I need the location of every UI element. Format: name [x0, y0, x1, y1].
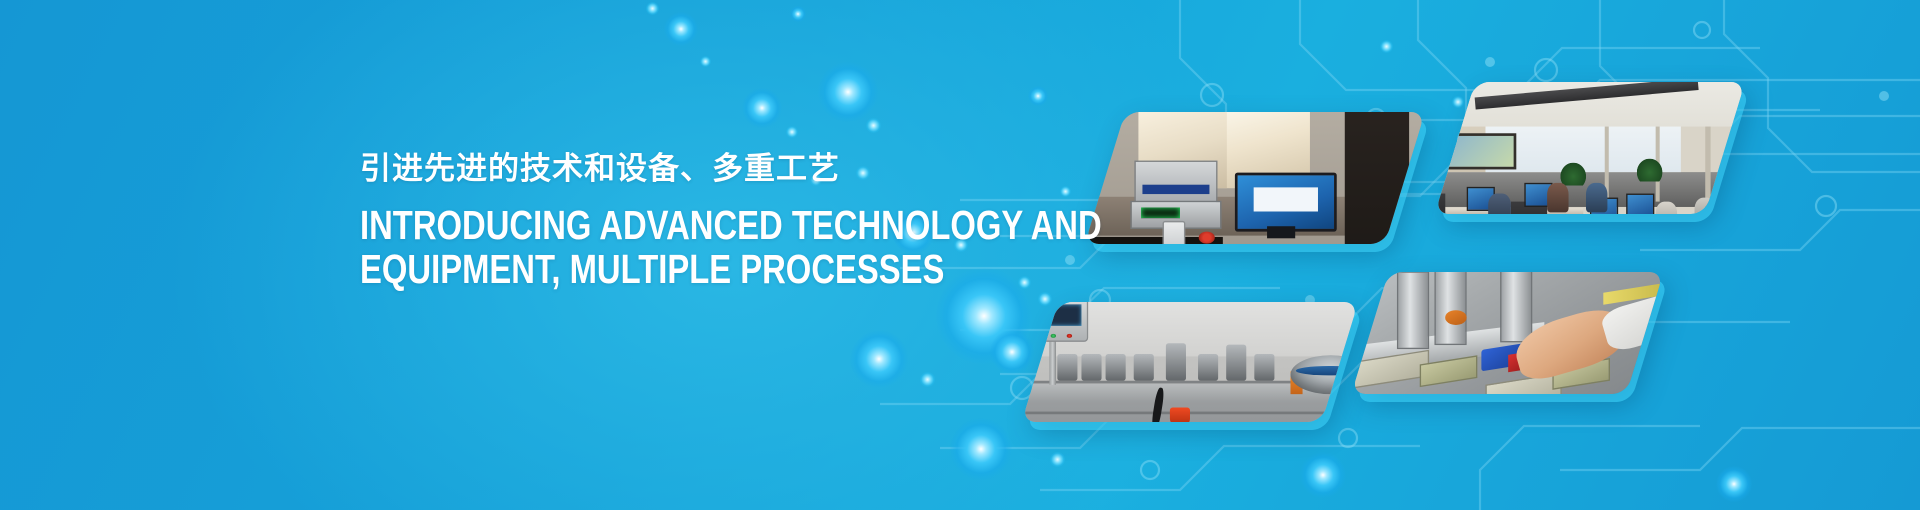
headline-english-line2: EQUIPMENT, MULTIPLE PROCESSES	[360, 247, 936, 291]
laboratory-test-station-photo	[1085, 112, 1425, 244]
open-plan-office-photo	[1435, 82, 1745, 214]
hero-banner: 引进先进的技术和设备、多重工艺 INTRODUCING ADVANCED TEC…	[0, 0, 1920, 510]
headline-english: INTRODUCING ADVANCED TECHNOLOGY AND EQUI…	[360, 203, 936, 292]
precision-manufacturing-hand-photo	[1351, 272, 1663, 394]
automated-assembly-machine-photo	[1022, 302, 1359, 422]
headline-english-line1: INTRODUCING ADVANCED TECHNOLOGY AND	[360, 203, 936, 247]
headline-chinese: 引进先进的技术和设备、多重工艺	[360, 150, 1080, 189]
headline-block: 引进先进的技术和设备、多重工艺 INTRODUCING ADVANCED TEC…	[360, 150, 1080, 291]
